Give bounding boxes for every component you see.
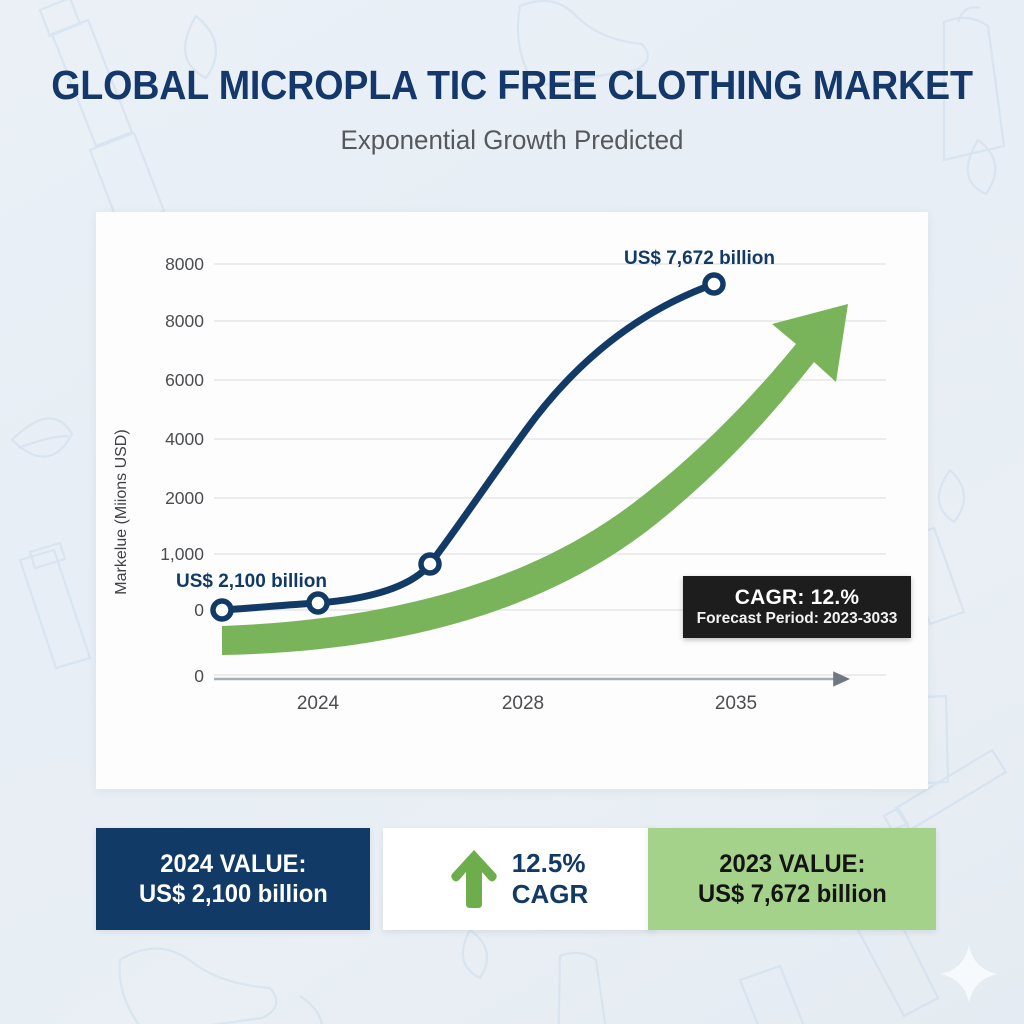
x-tick-label: 2024: [297, 693, 340, 714]
chart-card: 8000 8000 6000 4000 2000 1,000 0 0 Marke…: [96, 212, 928, 789]
up-arrow-icon: [450, 848, 498, 910]
cagr-badge: CAGR: 12.% Forecast Period: 2023-3033: [683, 576, 911, 638]
cagr-badge-line1: CAGR: 12.%: [735, 587, 860, 609]
y-tick-label: 8000: [165, 254, 204, 274]
y-tick-label: 8000: [165, 311, 204, 331]
y-tick-label: 1,000: [160, 544, 204, 564]
y-tick-label: 0: [194, 600, 204, 620]
stat-2024-line1: 2024 VALUE:: [139, 849, 328, 880]
cagr-badge-line2: Forecast Period: 2023-3033: [697, 611, 898, 627]
cagr-percent: 12.5%: [512, 848, 589, 879]
start-value-label: US$ 2,100 billion: [176, 571, 327, 592]
stat-2024-line2: US$ 2,100 billion: [139, 879, 328, 910]
stat-card-cagr[interactable]: 12.5% CAGR: [383, 828, 655, 930]
infographic-canvas: GLOBAL MICROPLA TIC FREE CLOTHING MARKET…: [0, 0, 1024, 1024]
header: GLOBAL MICROPLA TIC FREE CLOTHING MARKET…: [0, 62, 1024, 156]
y-axis-title: Markelue (Miions USD): [113, 429, 130, 594]
x-tick-label: 2035: [715, 693, 757, 714]
sparkle-icon: [938, 943, 1000, 1005]
data-point-marker: [421, 555, 439, 573]
cagr-label: CAGR: [512, 879, 589, 910]
stat-2023-line1: 2023 VALUE:: [698, 849, 887, 880]
y-tick-label: 0: [194, 666, 204, 686]
line-chart-plot: 8000 8000 6000 4000 2000 1,000 0 0 Marke…: [96, 212, 928, 789]
data-point-marker: [309, 594, 327, 612]
data-point-marker: [705, 275, 723, 293]
page-subtitle: Exponential Growth Predicted: [20, 125, 1003, 156]
stat-card-row: 2024 VALUE: US$ 2,100 billion 12.5% CAGR…: [96, 828, 936, 930]
data-point-marker: [213, 601, 231, 619]
data-line: [222, 284, 714, 610]
page-title: GLOBAL MICROPLA TIC FREE CLOTHING MARKET: [36, 62, 988, 109]
stat-card-2024-value[interactable]: 2024 VALUE: US$ 2,100 billion: [96, 828, 370, 930]
stat-card-2023-value[interactable]: 2023 VALUE: US$ 7,672 billion: [648, 828, 936, 930]
y-tick-label: 6000: [165, 370, 204, 390]
y-tick-label: 4000: [165, 429, 204, 449]
y-tick-label: 2000: [165, 488, 204, 508]
end-value-label: US$ 7,672 billion: [624, 248, 775, 269]
x-tick-label: 2028: [502, 693, 544, 714]
stat-2023-line2: US$ 7,672 billion: [698, 879, 887, 910]
